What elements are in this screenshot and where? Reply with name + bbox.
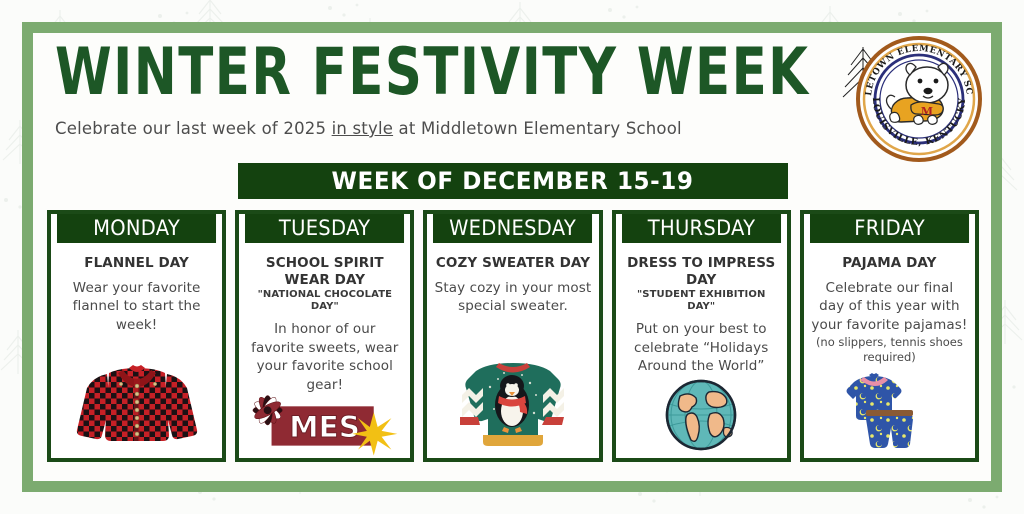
day-description-tuesday: In honor of our favorite sweets, wear yo… bbox=[246, 320, 403, 395]
day-art-monday bbox=[58, 360, 215, 452]
day-title-thursday: DRESS TO IMPRESS DAY bbox=[623, 255, 780, 288]
day-header-wednesday: WEDNESDAY bbox=[433, 214, 592, 243]
day-art-wednesday bbox=[434, 351, 591, 451]
day-card-thursday[interactable]: THURSDAY DRESS TO IMPRESS DAY "STUDENT E… bbox=[612, 210, 791, 462]
day-alt-title-thursday: "STUDENT EXHIBITION DAY" bbox=[623, 289, 780, 313]
school-seal-logo: MIDDLETOWN ELEMENTARY SCHOOL LOUISVILLE,… bbox=[855, 35, 983, 163]
day-title-wednesday: COZY SWEATER DAY bbox=[436, 255, 590, 271]
day-description-friday: Celebrate our final day of this year wit… bbox=[811, 279, 968, 335]
subtitle-part-2: at Middletown Elementary School bbox=[393, 119, 682, 138]
svg-text:M: M bbox=[921, 105, 933, 118]
winter-festivity-poster: WINTER FESTIVITY WEEK bbox=[0, 0, 1024, 514]
day-body-tuesday: SCHOOL SPIRIT WEAR DAY "NATIONAL CHOCOLA… bbox=[239, 243, 410, 462]
day-body-monday: FLANNEL DAY Wear your favorite flannel t… bbox=[51, 243, 222, 458]
day-card-tuesday[interactable]: TUESDAY SCHOOL SPIRIT WEAR DAY "NATIONAL… bbox=[235, 210, 414, 462]
day-description-wednesday: Stay cozy in your most special sweater. bbox=[434, 279, 591, 316]
day-description-monday: Wear your favorite flannel to start the … bbox=[58, 279, 215, 335]
title-row: WINTER FESTIVITY WEEK bbox=[55, 41, 937, 105]
day-art-tuesday: MES bbox=[246, 394, 403, 456]
penguin-sweater-illustration bbox=[438, 351, 588, 451]
day-title-tuesday: SCHOOL SPIRIT WEAR DAY bbox=[246, 255, 403, 288]
day-body-wednesday: COZY SWEATER DAY Stay cozy in your most … bbox=[427, 243, 598, 458]
mes-logo-text: MES bbox=[289, 410, 360, 444]
pajamas-illustration bbox=[836, 368, 946, 448]
day-title-friday: PAJAMA DAY bbox=[842, 255, 936, 271]
week-banner: WEEK OF DECEMBER 15-19 bbox=[238, 163, 788, 199]
day-card-friday[interactable]: FRIDAY PAJAMA DAY Celebrate our final da… bbox=[800, 210, 979, 462]
poster-header: WINTER FESTIVITY WEEK bbox=[33, 33, 991, 159]
flannel-shirt-illustration bbox=[67, 360, 207, 452]
day-header-tuesday: TUESDAY bbox=[245, 214, 404, 243]
day-art-thursday bbox=[623, 376, 780, 454]
day-cards-row: MONDAY FLANNEL DAY Wear your favorite fl… bbox=[47, 210, 979, 481]
mes-spirit-logo-illustration: MES bbox=[246, 394, 403, 456]
day-art-friday bbox=[813, 368, 970, 448]
day-card-monday[interactable]: MONDAY FLANNEL DAY Wear your favorite fl… bbox=[47, 210, 226, 462]
day-body-thursday: DRESS TO IMPRESS DAY "STUDENT EXHIBITION… bbox=[616, 243, 787, 462]
day-body-friday: PAJAMA DAY Celebrate our final day of th… bbox=[804, 243, 975, 458]
day-title-monday: FLANNEL DAY bbox=[84, 255, 189, 271]
day-header-thursday: THURSDAY bbox=[622, 214, 781, 243]
globe-illustration bbox=[662, 376, 740, 454]
poster-subtitle: Celebrate our last week of 2025 in style… bbox=[55, 119, 682, 138]
page-title: WINTER FESTIVITY WEEK bbox=[55, 40, 809, 105]
day-note-friday: (no slippers, tennis shoes required) bbox=[811, 335, 968, 364]
week-banner-label: WEEK OF DECEMBER 15-19 bbox=[332, 167, 694, 195]
subtitle-part-1: Celebrate our last week of 2025 bbox=[55, 119, 332, 138]
subtitle-emphasis: in style bbox=[332, 119, 393, 138]
day-header-monday: MONDAY bbox=[57, 214, 216, 243]
day-alt-title-tuesday: "NATIONAL CHOCOLATE DAY" bbox=[246, 289, 403, 313]
day-header-friday: FRIDAY bbox=[810, 214, 969, 243]
day-description-thursday: Put on your best to celebrate “Holidays … bbox=[623, 320, 780, 376]
day-card-wednesday[interactable]: WEDNESDAY COZY SWEATER DAY Stay cozy in … bbox=[423, 210, 602, 462]
